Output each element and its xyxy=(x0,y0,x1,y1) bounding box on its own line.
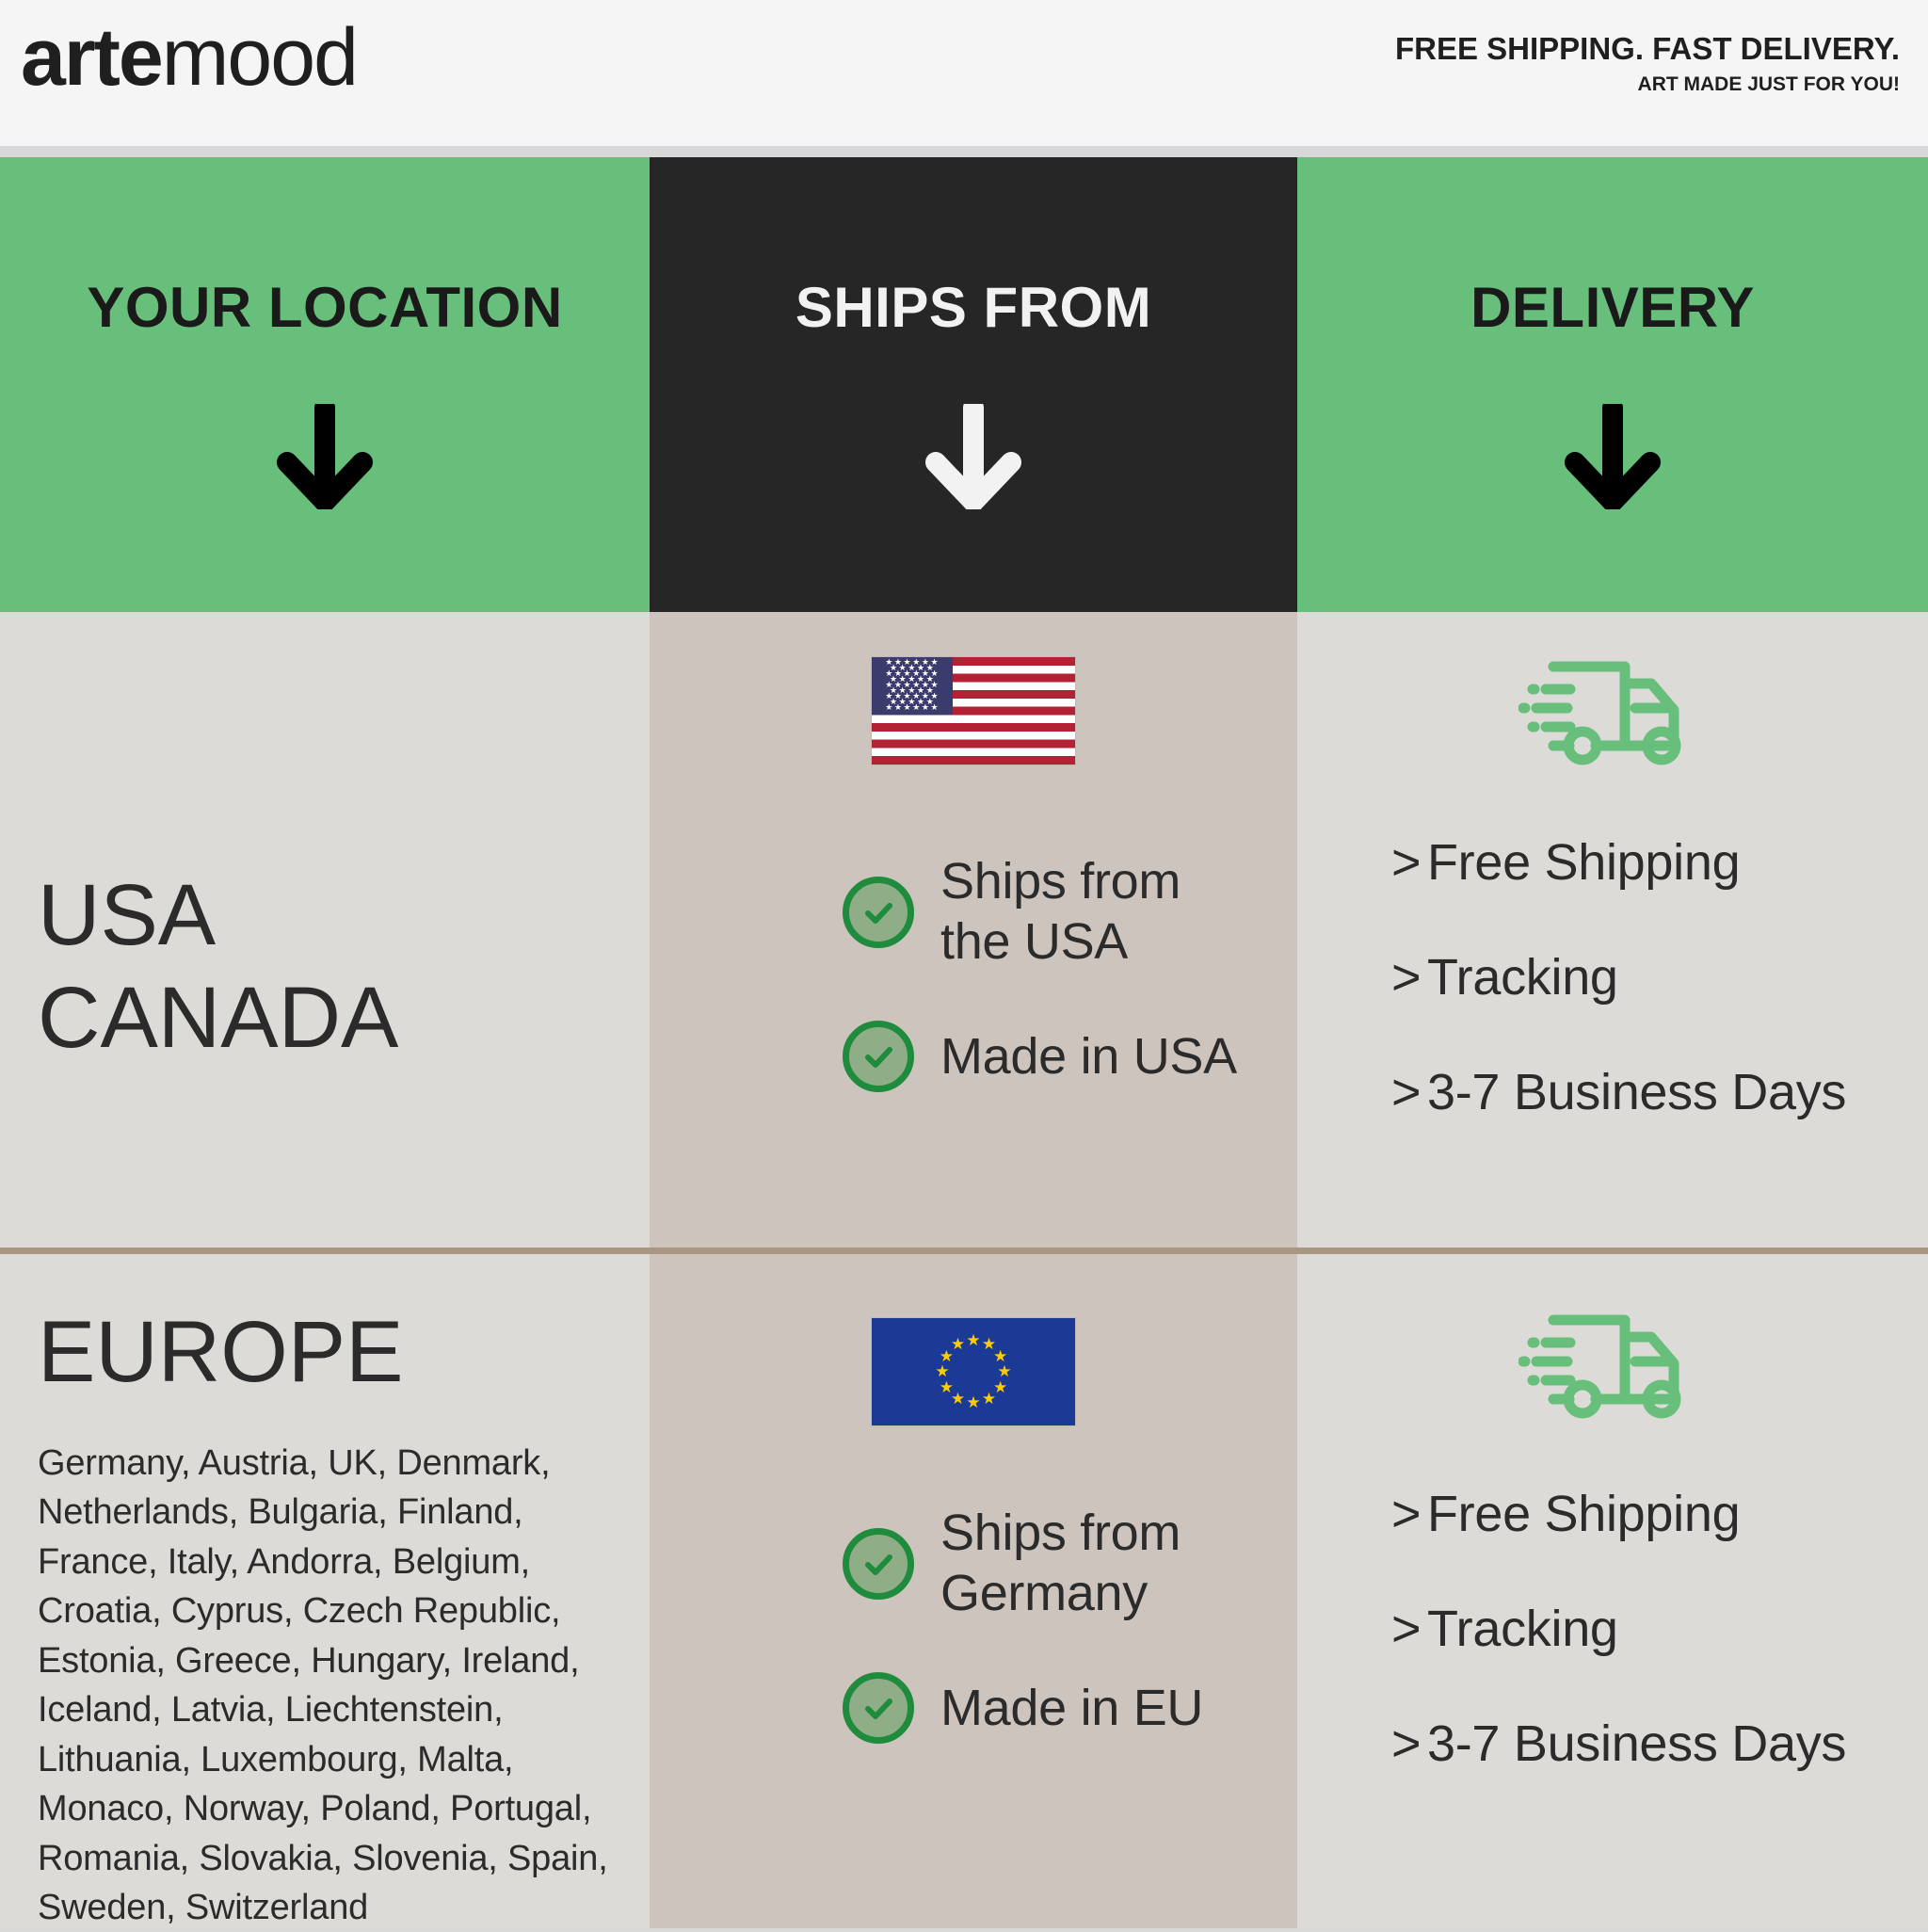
site-header: artemood FREE SHIPPING. FAST DELIVERY. A… xyxy=(0,0,1928,146)
chevron-right-icon: > xyxy=(1391,833,1427,892)
column-header-delivery: DELIVERY xyxy=(1297,157,1928,612)
row-delivery-cell: >Free Shipping >Tracking >3-7 Business D… xyxy=(1297,1254,1928,1928)
table-row: USA CANADA ★★★★★★ ★★★★★ ★★★★★★ ★★★★★ ★★★… xyxy=(0,612,1928,1248)
check-circle-icon xyxy=(843,1672,914,1744)
header-tagline: FREE SHIPPING. FAST DELIVERY. ART MADE J… xyxy=(1395,32,1900,96)
country-list: Germany, Austria, UK, Denmark, Netherlan… xyxy=(38,1439,631,1932)
row-ships-from-cell: ★ ★ ★ ★ ★ ★ ★ ★ ★ ★ ★ ★ Sh xyxy=(650,1254,1297,1928)
ships-from-check-list: Ships from the USA Made in USA xyxy=(843,852,1237,1141)
list-item: >Tracking xyxy=(1391,948,1846,1006)
logo-regular-part: mood xyxy=(162,12,357,103)
chevron-right-icon: > xyxy=(1391,1063,1427,1121)
list-item: Ships from Germany xyxy=(843,1504,1203,1623)
location-title: EUROPE xyxy=(38,1301,404,1404)
fast-truck-icon xyxy=(1518,650,1707,773)
delivery-feature-list: >Free Shipping >Tracking >3-7 Business D… xyxy=(1391,1485,1846,1829)
row-ships-from-cell: ★★★★★★ ★★★★★ ★★★★★★ ★★★★★ ★★★★★★ ★★★★★ ★… xyxy=(650,612,1297,1248)
ships-from-check-list: Ships from Germany Made in EU xyxy=(843,1504,1203,1793)
chevron-right-icon: > xyxy=(1391,948,1427,1006)
check-label: Made in USA xyxy=(940,1027,1237,1087)
truck-container xyxy=(1297,1303,1928,1426)
delivery-feature-list: >Free Shipping >Tracking >3-7 Business D… xyxy=(1391,833,1846,1178)
list-item: >Tracking xyxy=(1391,1600,1846,1658)
list-item: >Free Shipping xyxy=(1391,833,1846,892)
list-item: >Free Shipping xyxy=(1391,1485,1846,1543)
delivery-label: 3-7 Business Days xyxy=(1427,1064,1846,1120)
delivery-label: Tracking xyxy=(1427,949,1618,1006)
eu-flag-icon: ★ ★ ★ ★ ★ ★ ★ ★ ★ ★ ★ ★ xyxy=(872,1318,1075,1425)
column-title-your-location: YOUR LOCATION xyxy=(87,275,562,340)
delivery-label: Free Shipping xyxy=(1427,1486,1740,1542)
table-row: EUROPE Germany, Austria, UK, Denmark, Ne… xyxy=(0,1254,1928,1928)
header-divider xyxy=(0,146,1928,157)
brand-logo[interactable]: artemood xyxy=(21,17,357,98)
list-item: Ships from the USA xyxy=(843,852,1237,972)
column-title-ships-from: SHIPS FROM xyxy=(795,275,1151,340)
check-circle-icon xyxy=(843,877,914,948)
list-item: Made in USA xyxy=(843,1021,1237,1092)
list-item: >3-7 Business Days xyxy=(1391,1715,1846,1773)
row-location-cell: USA CANADA xyxy=(0,612,650,1248)
flag-container: ★★★★★★ ★★★★★ ★★★★★★ ★★★★★ ★★★★★★ ★★★★★ ★… xyxy=(650,657,1297,765)
tagline-primary: FREE SHIPPING. FAST DELIVERY. xyxy=(1395,32,1900,66)
down-arrow-icon xyxy=(924,404,1022,514)
chevron-right-icon: > xyxy=(1391,1715,1427,1773)
column-header-band: YOUR LOCATION SHIPS FROM DELIVERY xyxy=(0,157,1928,612)
check-label: Made in EU xyxy=(940,1679,1203,1739)
list-item: >3-7 Business Days xyxy=(1391,1063,1846,1121)
check-label: Ships from Germany xyxy=(940,1504,1181,1623)
check-label: Ships from the USA xyxy=(940,852,1181,972)
delivery-label: 3-7 Business Days xyxy=(1427,1715,1846,1772)
delivery-label: Tracking xyxy=(1427,1601,1618,1657)
logo-bold-part: arte xyxy=(21,12,162,103)
check-circle-icon xyxy=(843,1528,914,1600)
down-arrow-icon xyxy=(276,404,374,514)
row-location-cell: EUROPE Germany, Austria, UK, Denmark, Ne… xyxy=(0,1254,650,1928)
location-title: USA CANADA xyxy=(38,864,398,1069)
us-flag-icon: ★★★★★★ ★★★★★ ★★★★★★ ★★★★★ ★★★★★★ ★★★★★ ★… xyxy=(872,657,1075,765)
column-header-ships-from: SHIPS FROM xyxy=(650,157,1297,612)
list-item: Made in EU xyxy=(843,1672,1203,1744)
chevron-right-icon: > xyxy=(1391,1600,1427,1658)
truck-container xyxy=(1297,650,1928,773)
row-divider xyxy=(0,1248,1928,1254)
fast-truck-icon xyxy=(1518,1303,1707,1426)
down-arrow-icon xyxy=(1564,404,1662,514)
delivery-label: Free Shipping xyxy=(1427,834,1740,891)
check-circle-icon xyxy=(843,1021,914,1092)
column-title-delivery: DELIVERY xyxy=(1470,275,1755,340)
flag-container: ★ ★ ★ ★ ★ ★ ★ ★ ★ ★ ★ ★ xyxy=(650,1318,1297,1425)
tagline-secondary: ART MADE JUST FOR YOU! xyxy=(1395,73,1900,96)
column-header-your-location: YOUR LOCATION xyxy=(0,157,650,612)
row-delivery-cell: >Free Shipping >Tracking >3-7 Business D… xyxy=(1297,612,1928,1248)
chevron-right-icon: > xyxy=(1391,1485,1427,1543)
